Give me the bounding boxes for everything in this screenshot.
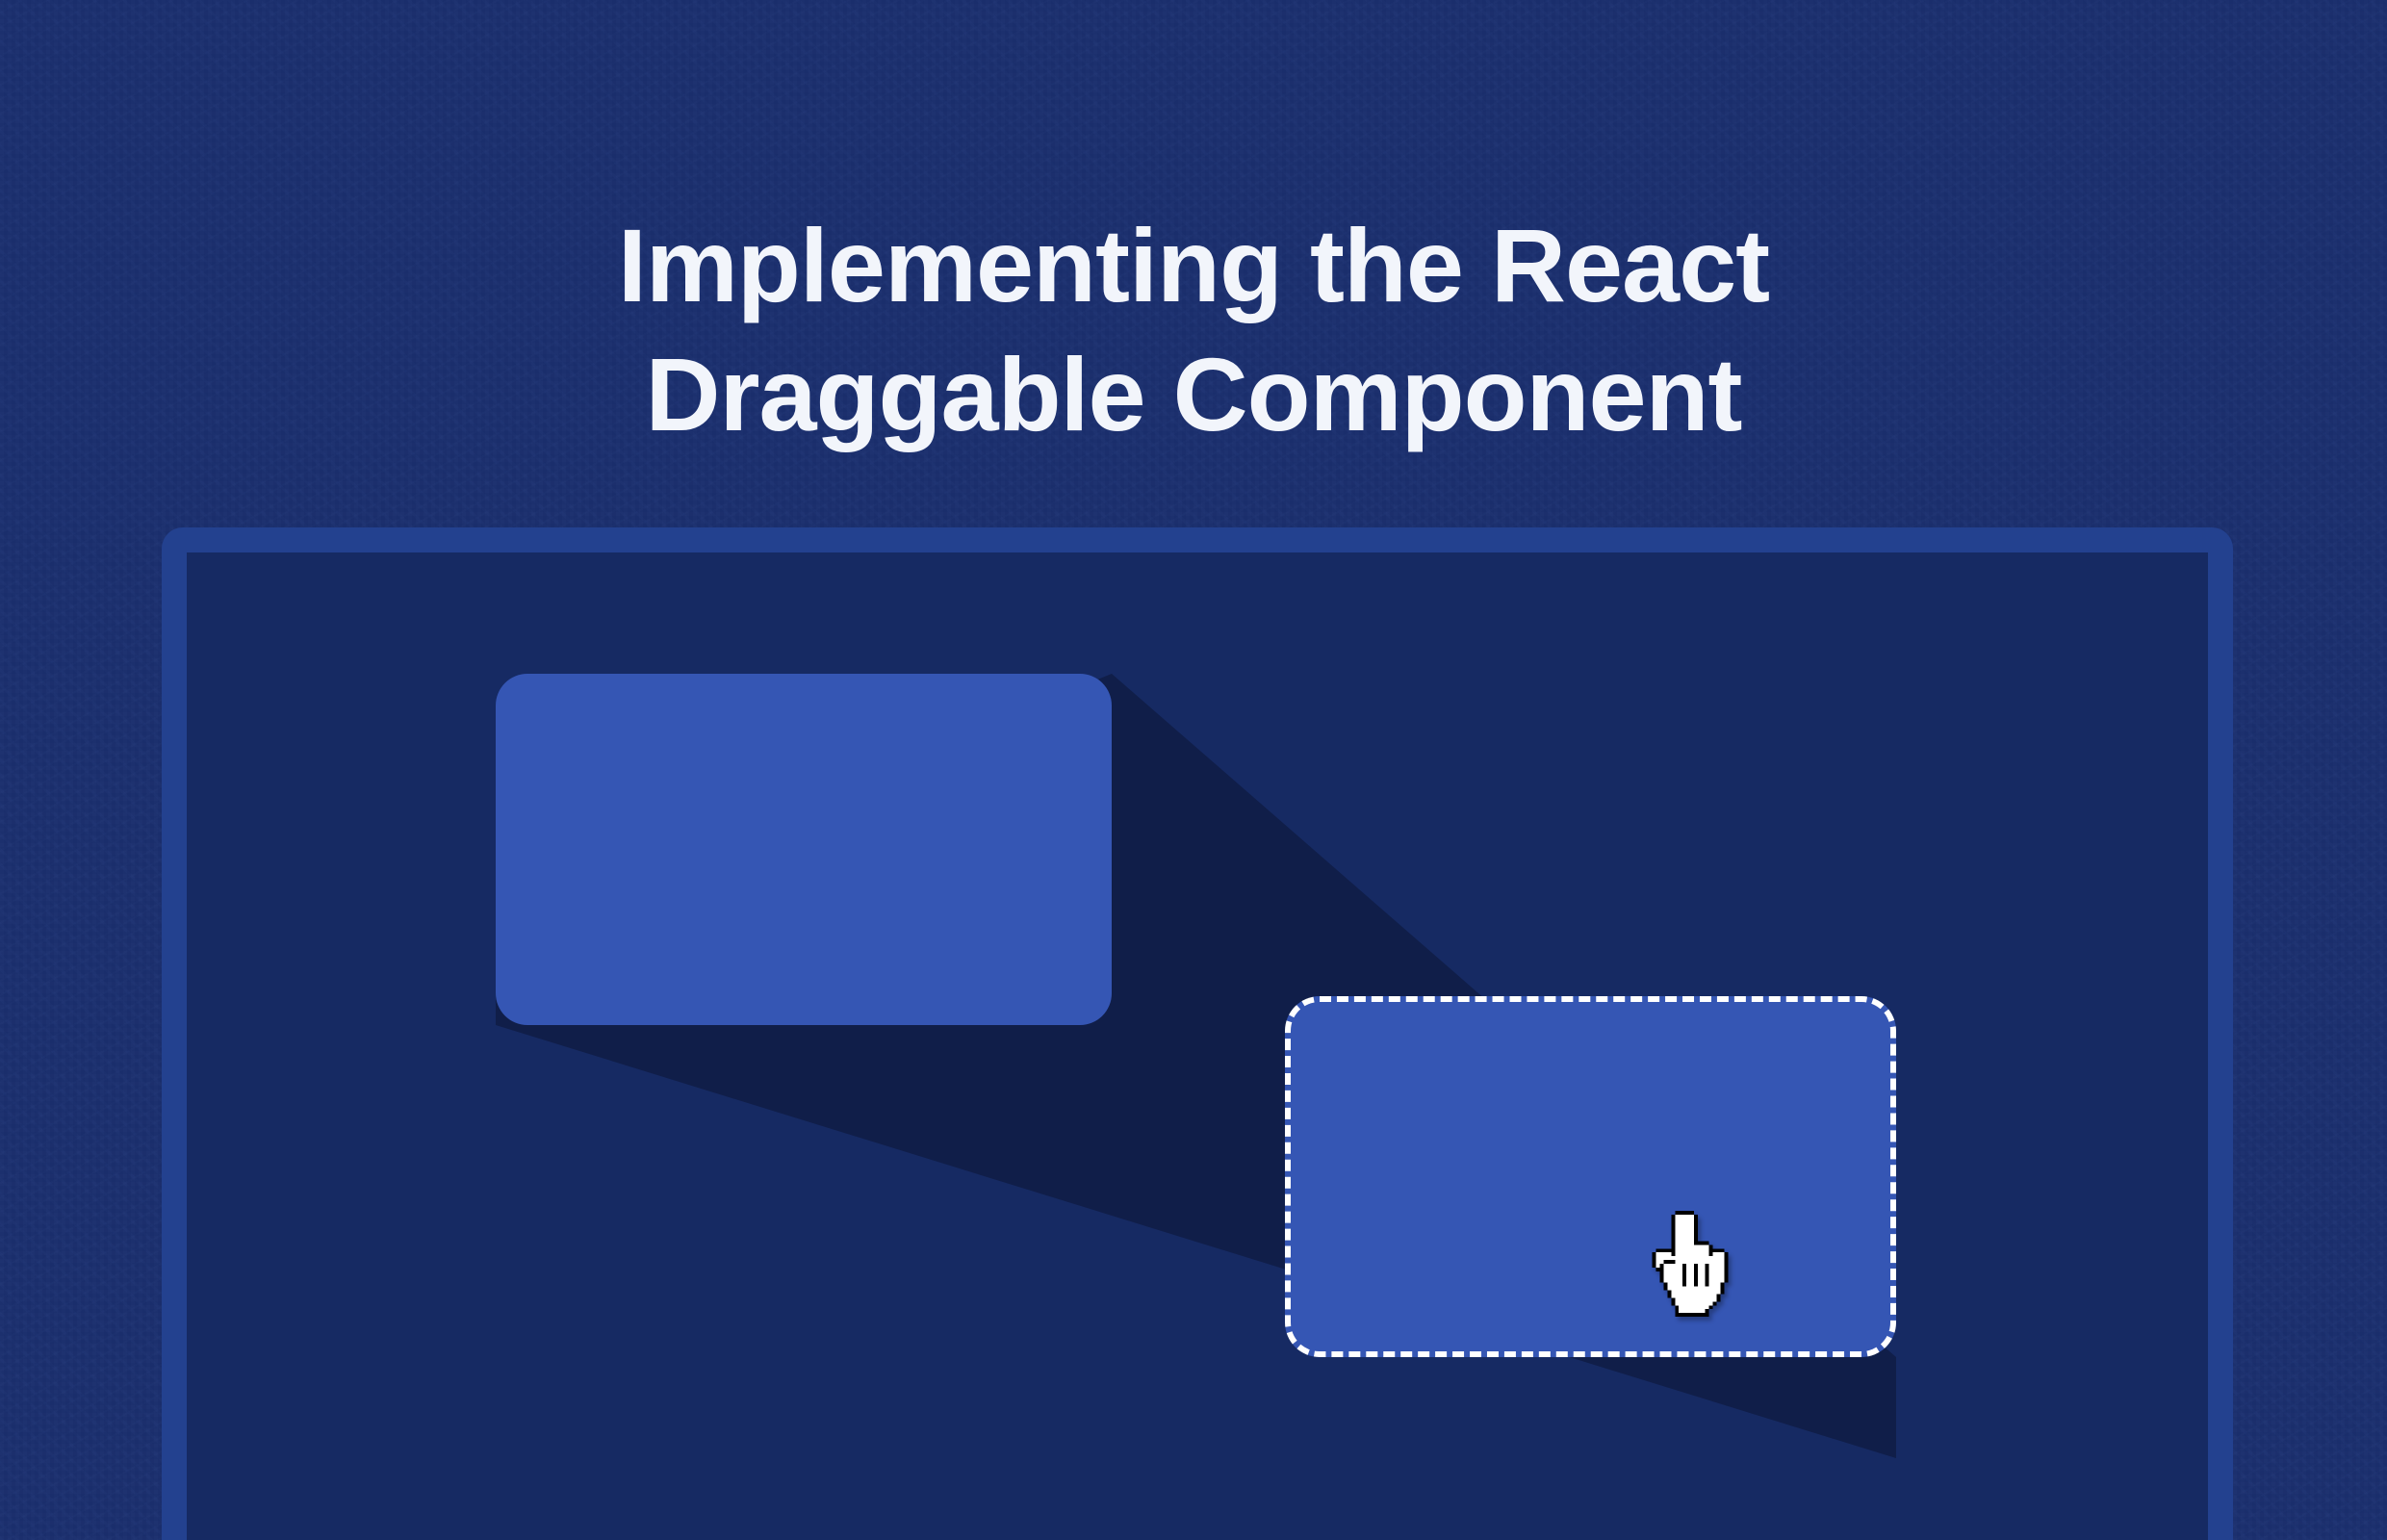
source-card[interactable] <box>496 674 1112 1025</box>
page-title: Implementing the React Draggable Compone… <box>0 214 2387 447</box>
drag-surface[interactable] <box>187 552 2208 1540</box>
long-shadow-layer <box>187 552 2208 1540</box>
page-title-line-1: Implementing the React <box>0 214 2387 318</box>
drag-area-container[interactable] <box>162 527 2233 1540</box>
page-root: Implementing the React Draggable Compone… <box>0 0 2387 1540</box>
page-title-line-2: Draggable Component <box>0 343 2387 447</box>
dragging-card[interactable] <box>1285 996 1896 1357</box>
pointing-hand-cursor <box>1640 1211 1740 1321</box>
